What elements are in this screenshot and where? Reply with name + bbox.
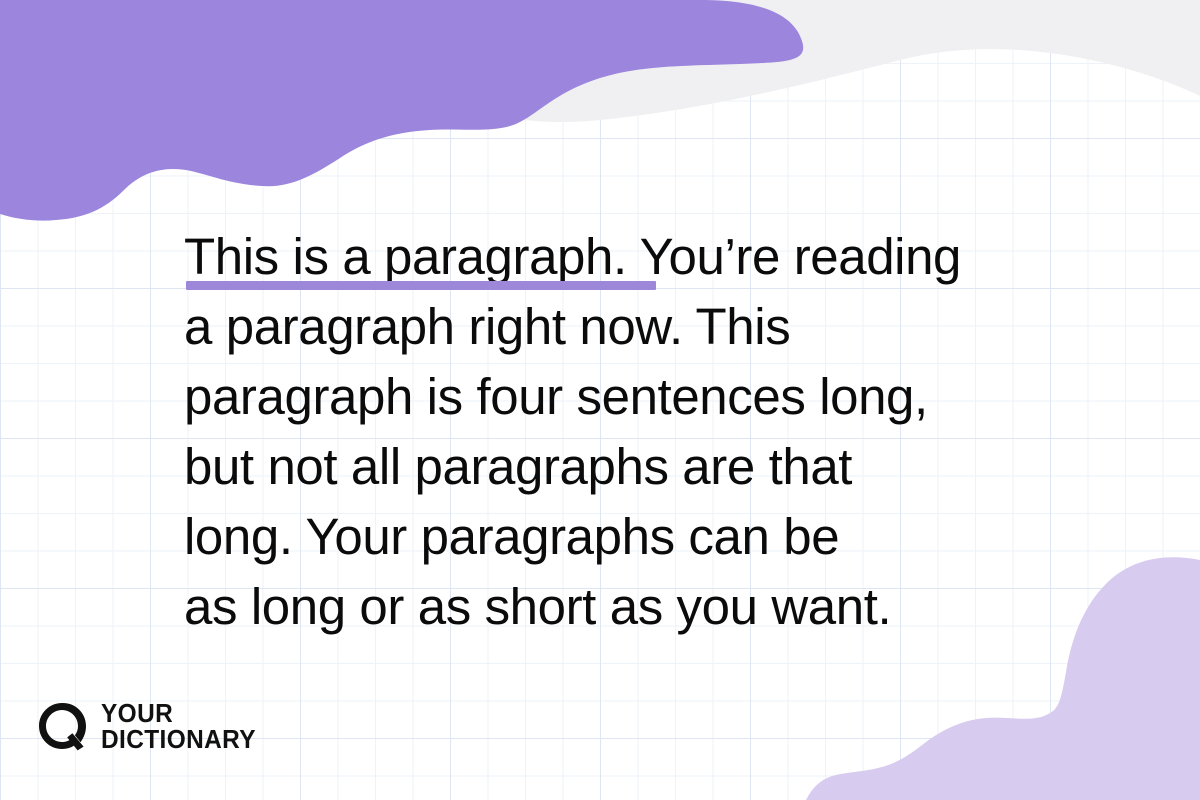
paragraph-line: but not all paragraphs are that	[184, 432, 1044, 502]
paragraph-line: paragraph is four sentences long,	[184, 362, 1044, 432]
paragraph-line: a paragraph right now. This	[184, 292, 1044, 362]
paragraph-line: long. Your paragraphs can be	[184, 502, 1044, 572]
logo-line-your: YOUR	[101, 700, 256, 726]
yourdictionary-q-mark	[36, 700, 88, 752]
accent-underline	[186, 281, 656, 290]
paragraph-line: as long or as short as you want.	[184, 572, 1044, 642]
yourdictionary-logo: YOUR DICTIONARY	[36, 700, 266, 752]
logo-line-dictionary: DICTIONARY	[101, 726, 256, 752]
poster-canvas: This is a paragraph. You’re reading a pa…	[0, 0, 1200, 800]
logo-wordmark: YOUR DICTIONARY	[101, 700, 266, 752]
